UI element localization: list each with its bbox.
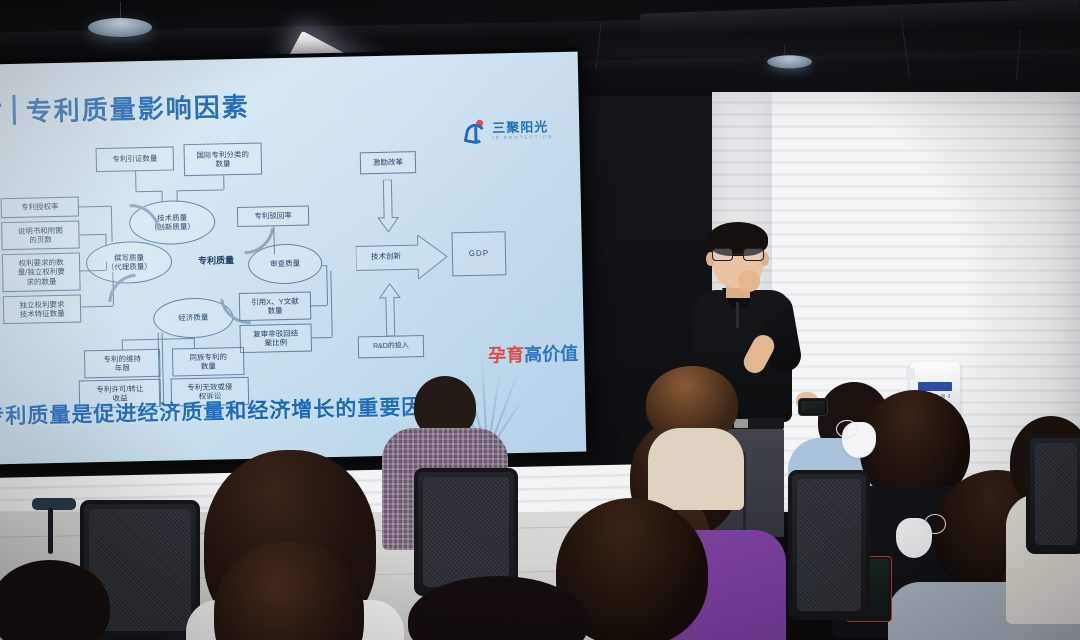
screenshot-root: 才 专利质量影响因素 三聚阳光 IP PROTECTION 专利引证数量 国际专… bbox=[0, 0, 1080, 640]
audience-hair bbox=[0, 560, 110, 640]
banner-blue-text: 高价值 bbox=[524, 344, 578, 365]
diagram-link bbox=[122, 340, 123, 350]
banner-red-text: 孕育 bbox=[488, 345, 524, 366]
diagram-box-gdp: GDP bbox=[451, 231, 506, 276]
diagram-box-family: 同族专利的 数量 bbox=[172, 347, 245, 377]
presenter-right-hand bbox=[738, 270, 760, 292]
title-divider bbox=[12, 95, 16, 125]
diagram-link bbox=[326, 265, 328, 305]
smartphone bbox=[798, 398, 828, 416]
diagram-link bbox=[79, 206, 111, 208]
diagram-box-features: 独立权利要求 技术特征数量 bbox=[3, 294, 82, 324]
slide-title: 专利质量影响因素 bbox=[25, 86, 250, 128]
diagram-link bbox=[136, 191, 162, 193]
diagram-box-xy: 引用X、Y文献 数量 bbox=[239, 291, 312, 321]
slide-header: 才 专利质量影响因素 bbox=[0, 83, 250, 133]
diagram-box-innovation: 技术创新 bbox=[358, 245, 414, 268]
diagram-link bbox=[194, 338, 195, 348]
chair bbox=[1026, 434, 1080, 554]
audience-member bbox=[0, 560, 140, 640]
diagram-link bbox=[79, 234, 105, 236]
diagram-up-arrow bbox=[379, 284, 402, 341]
diagram-box-reject: 专利驳回率 bbox=[237, 205, 309, 227]
diagram-box-grant: 专利授权率 bbox=[1, 197, 79, 219]
diagram-box-ipc: 国际专利分类的 数量 bbox=[183, 143, 262, 177]
audience-member bbox=[408, 576, 588, 640]
diagram-link bbox=[311, 305, 327, 306]
brand-name: 三聚阳光 bbox=[492, 120, 553, 134]
slide-banner-right: 孕育高价值 bbox=[488, 340, 579, 368]
podium-microphone bbox=[906, 368, 915, 380]
presenter-placket bbox=[736, 302, 739, 328]
diagram-link bbox=[135, 171, 136, 191]
chair bbox=[788, 470, 870, 620]
audience-member bbox=[640, 366, 752, 486]
face-mask-strap bbox=[924, 514, 946, 534]
diagram-box-maintain: 专利的维持 年限 bbox=[84, 349, 161, 379]
diagram-box-pages: 说明书和附图 的页数 bbox=[1, 221, 80, 251]
audience-member bbox=[180, 450, 410, 640]
diagram-link bbox=[273, 226, 275, 254]
diagram-box-cite: 专利引证数量 bbox=[96, 146, 175, 172]
diagram-box-reexam: 复审非驳回结 案比例 bbox=[239, 323, 312, 353]
diagram-link bbox=[176, 189, 223, 191]
diagram-link bbox=[223, 175, 224, 189]
diagram-box-reform: 激励改革 bbox=[360, 151, 416, 174]
diagram-link bbox=[312, 337, 332, 338]
diagram-link bbox=[330, 271, 332, 337]
diagram-link bbox=[162, 333, 165, 407]
diagram-down-arrow bbox=[376, 180, 399, 239]
slide-title-glyph: 才 bbox=[0, 88, 3, 133]
face-mask-strap bbox=[836, 420, 858, 438]
glasses-icon bbox=[712, 248, 764, 262]
audience-hair bbox=[408, 576, 588, 640]
diagram-box-claims: 权利要求的数 量/独立权利要 求的数量 bbox=[2, 252, 81, 292]
